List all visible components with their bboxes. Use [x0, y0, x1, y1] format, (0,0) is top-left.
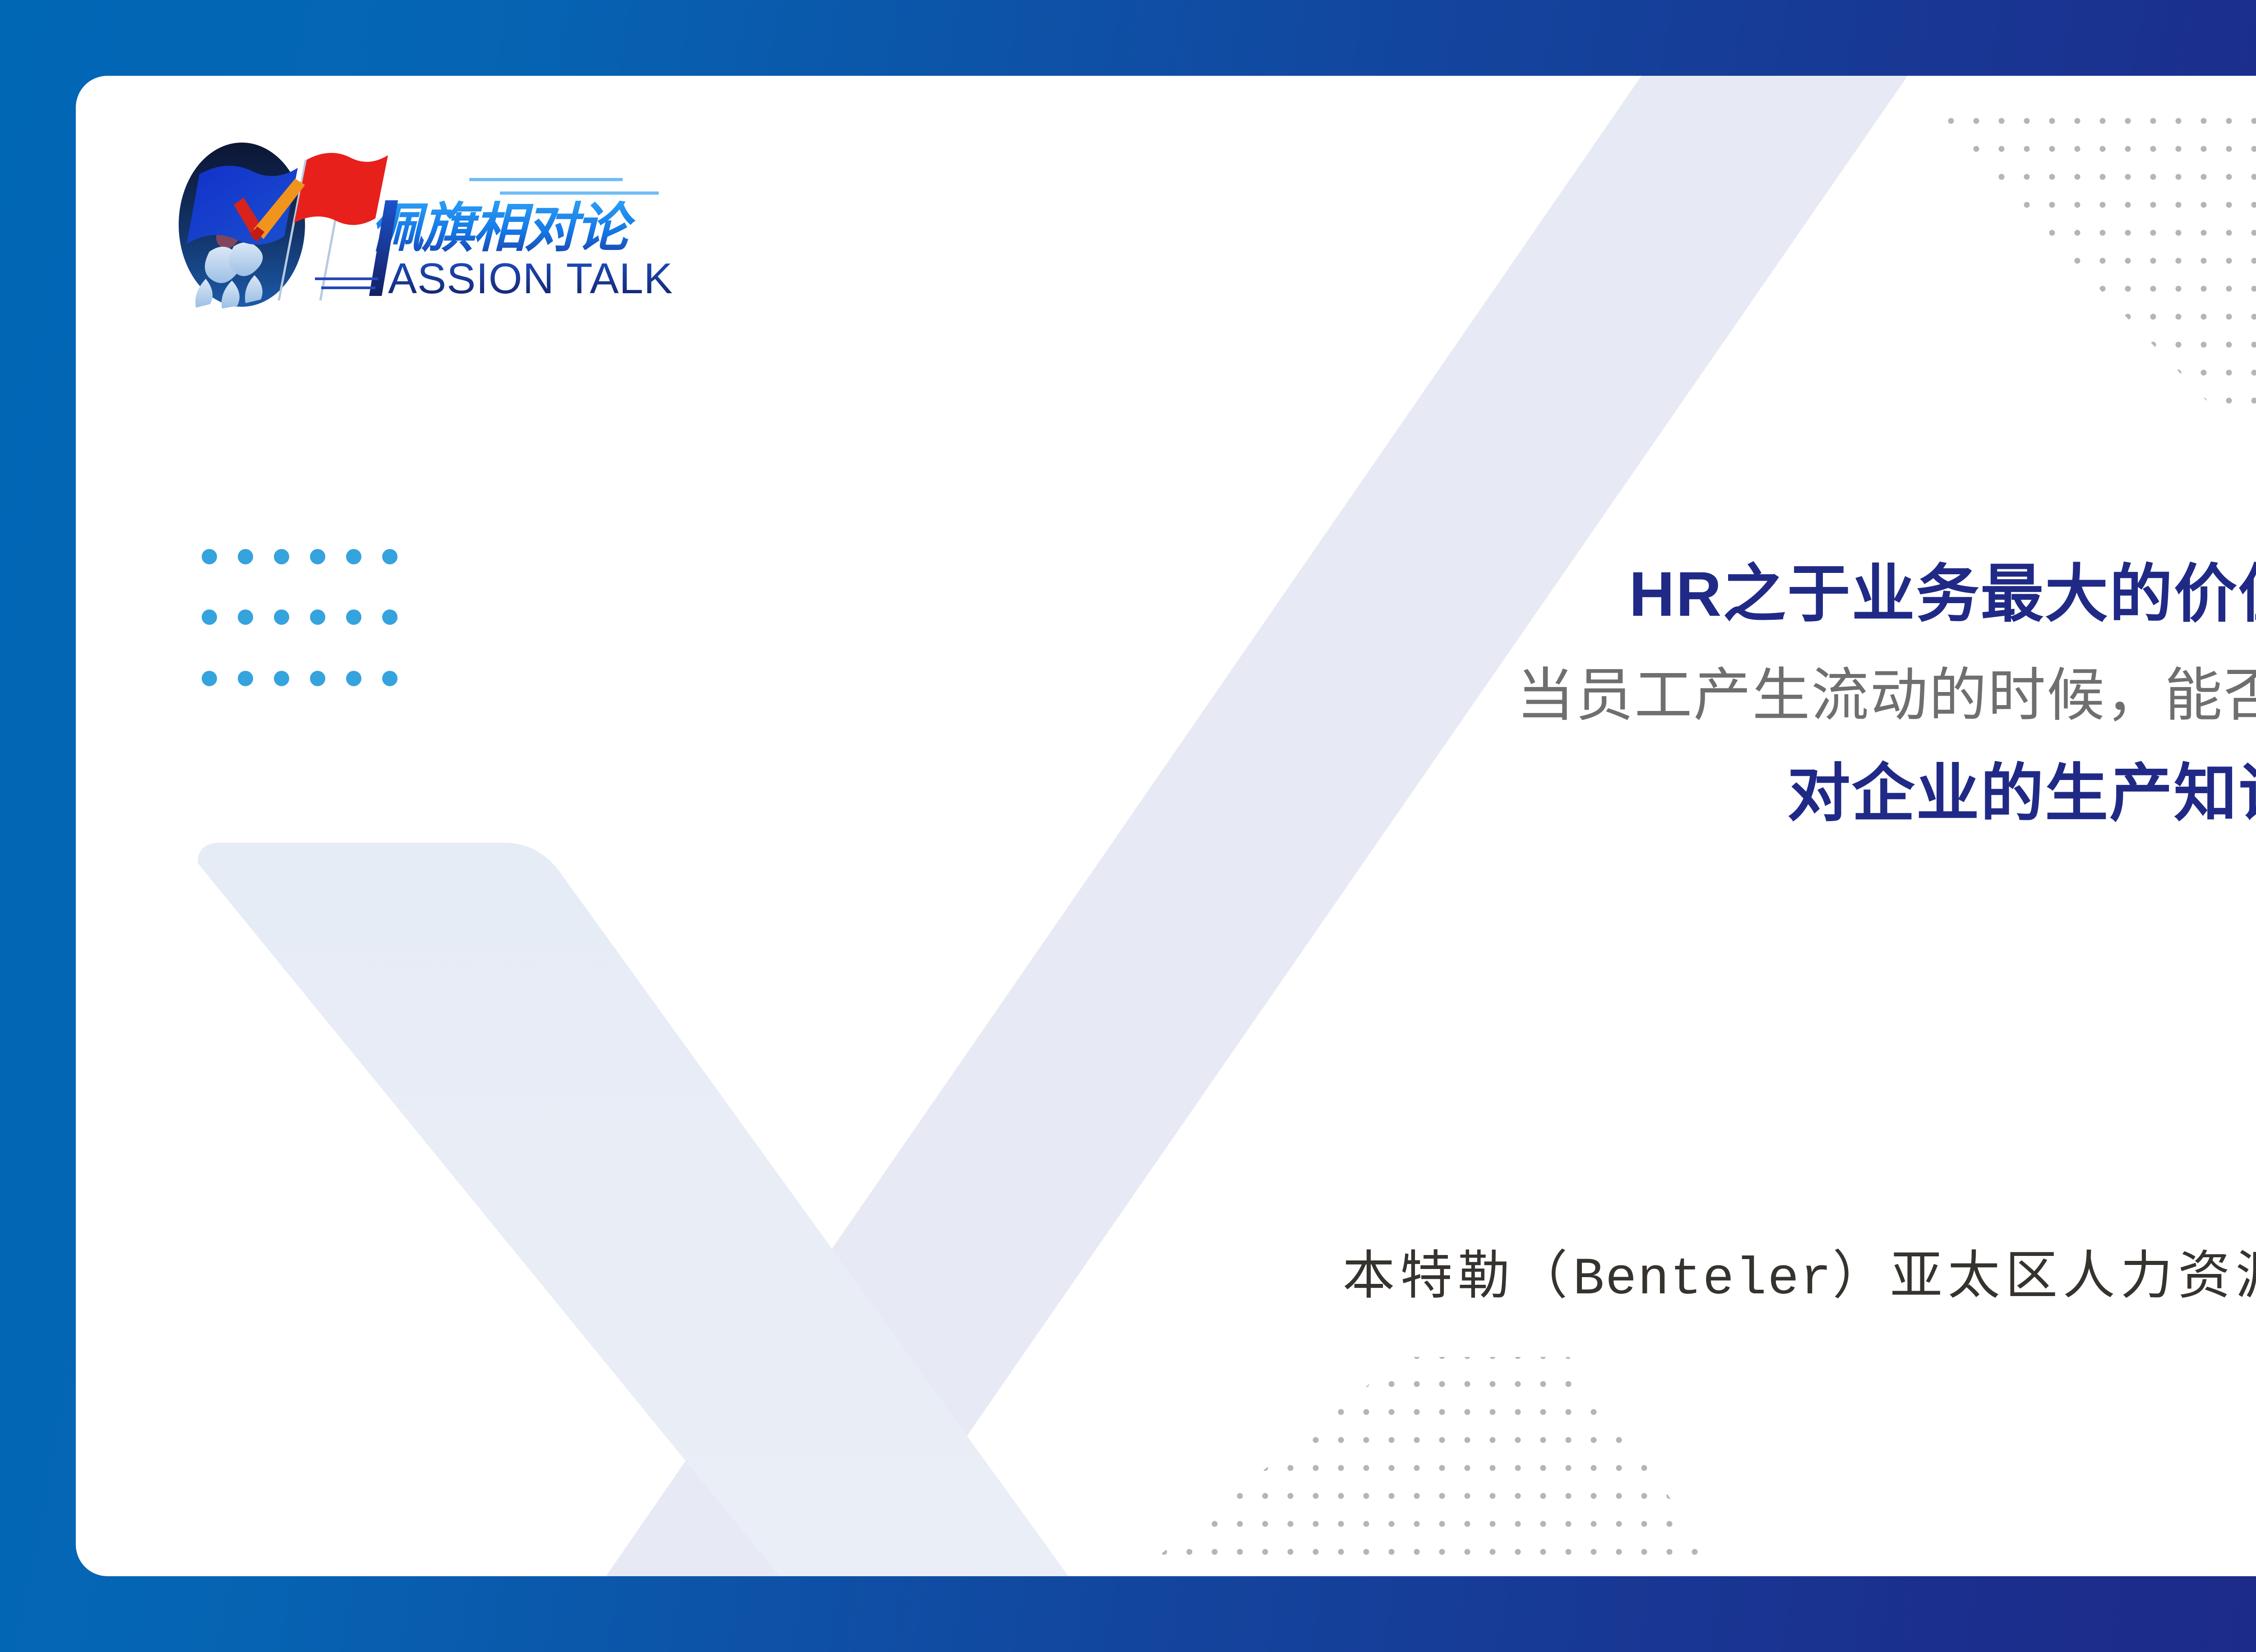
- speed-lines-icon: [469, 180, 659, 193]
- slide-card: 佩旗相对论 ASSION TALK HR要深入了解业务 HR之于业务最大的价值在…: [76, 76, 2256, 1576]
- quote-line-1: HR要深入了解业务: [678, 450, 2256, 538]
- logo-artwork: 佩旗相对论 ASSION TALK: [166, 111, 698, 309]
- logo-chinese-wordmark: 佩旗相对论: [370, 198, 636, 258]
- quote-block: HR要深入了解业务 HR之于业务最大的价值在于人才的补齐 当员工产生流动的时候，…: [678, 450, 2256, 842]
- attribution-prefix: 本特勒（: [1343, 1247, 1573, 1305]
- attribution: 本特勒（Benteler）亚太区人力资源总监——崔晔女士: [678, 1233, 2256, 1309]
- attribution-suffix: ）亚太区人力资源总监——崔晔女士: [1832, 1247, 2256, 1305]
- gray-dot-triangle-bottom: [1059, 1352, 1727, 1576]
- logo-latin-wordmark: ASSION TALK: [388, 254, 673, 303]
- logo[interactable]: 佩旗相对论 ASSION TALK: [166, 111, 698, 309]
- quote-line-2: HR之于业务最大的价值在于人才的补齐: [678, 544, 2256, 645]
- gray-dot-triangle-top-right: [1872, 89, 2256, 423]
- blue-dot-grid: [201, 549, 400, 688]
- attribution-company: Benteler: [1573, 1250, 1832, 1309]
- quote-line-3: 当员工产生流动的时候，能否搭建人才知识体系: [678, 652, 2256, 740]
- quote-line-4: 对企业的生产知识进行固化和转变: [678, 746, 2256, 842]
